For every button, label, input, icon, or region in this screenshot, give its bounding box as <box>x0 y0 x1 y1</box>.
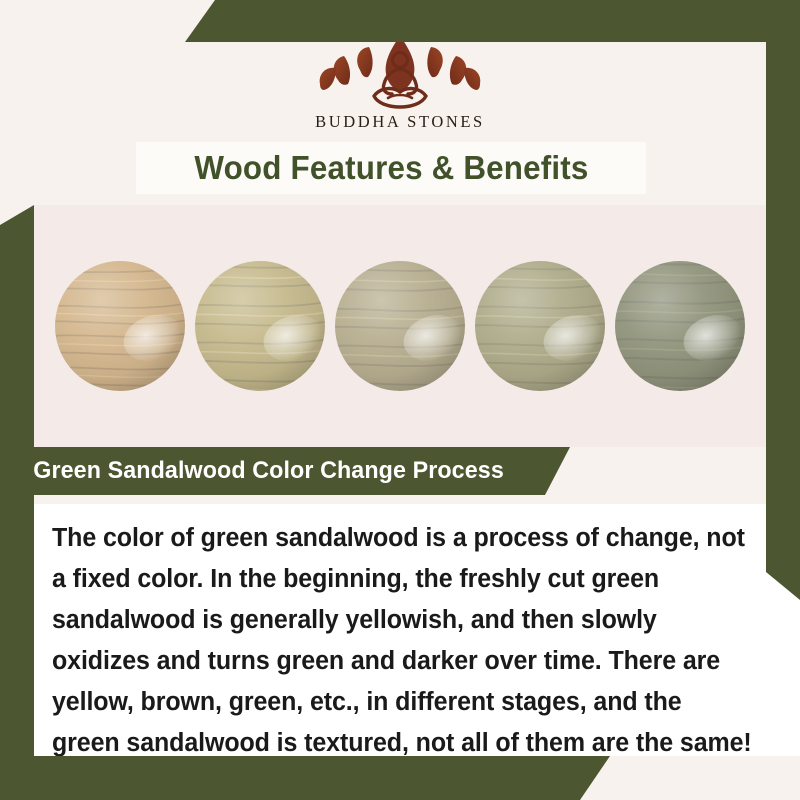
title-band: Wood Features & Benefits <box>136 142 646 194</box>
section-heading-banner: Green Sandalwood Color Change Process <box>0 447 600 495</box>
body-card: The color of green sandalwood is a proce… <box>34 504 800 756</box>
bead-stage-5 <box>615 261 745 391</box>
frame-right-bar <box>766 0 800 600</box>
frame-left-bar <box>0 205 34 800</box>
brand-name: BUDDHA STONES <box>315 112 485 132</box>
bead-stage-4 <box>475 261 605 391</box>
lotus-meditation-figure-icon <box>312 34 488 115</box>
bead-stage-3 <box>335 261 465 391</box>
frame-bottom-bar <box>0 756 640 800</box>
brand-header: BUDDHA STONES <box>34 42 766 140</box>
bead-color-stages <box>34 205 766 447</box>
bead-stage-2 <box>195 261 325 391</box>
poster-root: BUDDHA STONES Wood Features & Benefits <box>0 0 800 800</box>
bead-stage-1 <box>55 261 185 391</box>
page-title: Wood Features & Benefits <box>194 149 588 187</box>
body-paragraph: The color of green sandalwood is a proce… <box>52 518 756 764</box>
section-heading: Green Sandalwood Color Change Process <box>33 457 504 485</box>
frame-top-bar <box>0 0 800 42</box>
